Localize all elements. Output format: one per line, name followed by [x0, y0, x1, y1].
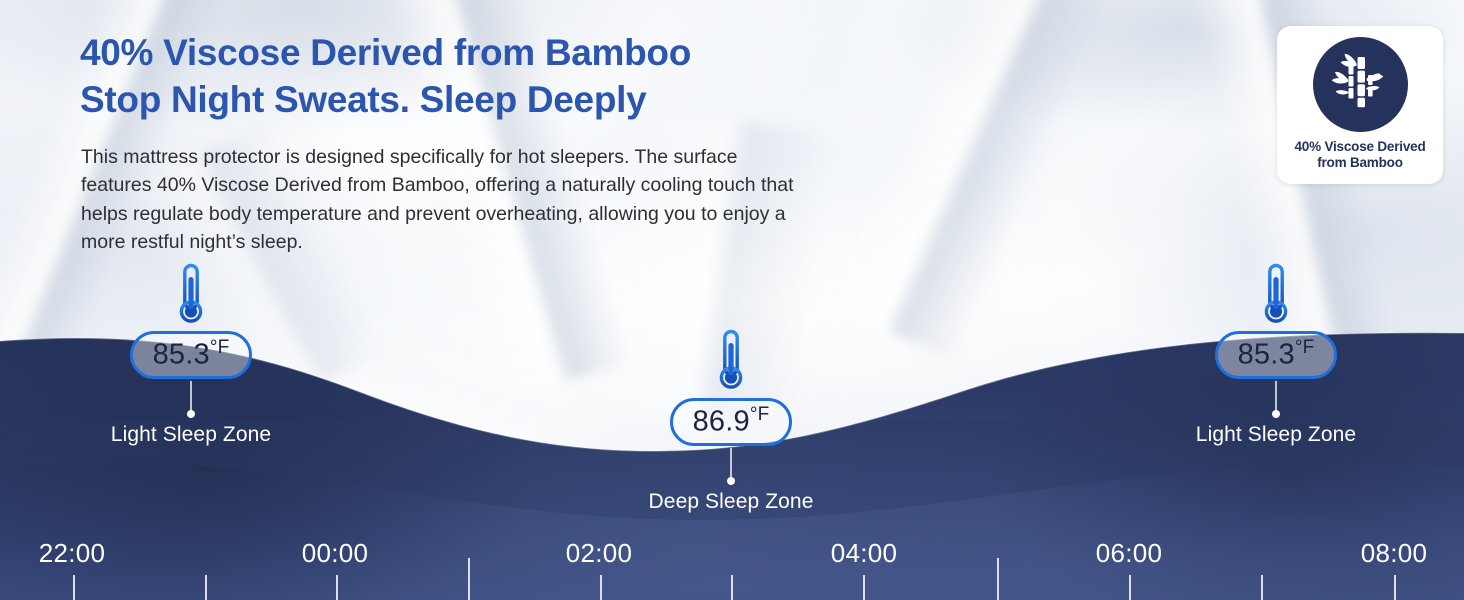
zone-label: Light Sleep Zone: [111, 423, 271, 447]
axis-tick: [731, 575, 733, 600]
badge-caption-line-1: 40% Viscose Derived: [1294, 139, 1425, 154]
temperature-number: 86.9: [693, 406, 750, 438]
axis-tick-major: [997, 558, 999, 600]
axis-label-22: 22:00: [39, 538, 106, 569]
body-paragraph: This mattress protector is designed spec…: [81, 143, 811, 256]
axis-tick: [1129, 575, 1131, 600]
temperature-pill: 86.9°F: [670, 398, 792, 446]
marker-connector-dot: [727, 477, 735, 485]
thermometer-icon: [718, 328, 744, 399]
axis-tick: [1261, 575, 1263, 600]
axis-tick: [600, 575, 602, 600]
axis-label-02: 02:00: [566, 538, 633, 569]
axis-tick: [1394, 575, 1396, 600]
bamboo-badge: 40% Viscose Derived from Bamboo: [1277, 26, 1443, 184]
axis-tick: [336, 575, 338, 600]
bamboo-icon: [1329, 51, 1391, 118]
thermometer-icon: [1263, 262, 1289, 333]
axis-tick: [73, 575, 75, 600]
axis-tick: [863, 575, 865, 600]
badge-caption: 40% Viscose Derived from Bamboo: [1294, 139, 1425, 172]
thermometer-icon: [178, 262, 204, 333]
infographic-canvas: 40% Viscose Derived from Bamboo Stop Nig…: [0, 0, 1464, 600]
axis-label-08: 08:00: [1361, 538, 1428, 569]
quilt-fold: [821, 0, 1129, 362]
zone-label: Deep Sleep Zone: [649, 490, 814, 514]
axis-label-00: 00:00: [302, 538, 369, 569]
temperature-unit: °F: [210, 337, 230, 358]
zone-label: Light Sleep Zone: [1196, 423, 1356, 447]
page-title: 40% Viscose Derived from Bamboo Stop Nig…: [80, 30, 840, 124]
axis-tick: [205, 575, 207, 600]
temperature-number: 85.3: [1238, 339, 1295, 371]
temperature-unit: °F: [750, 404, 770, 425]
temperature-value: 86.9°F: [693, 405, 770, 439]
axis-label-04: 04:00: [831, 538, 898, 569]
headline-line-2: Stop Night Sweats. Sleep Deeply: [80, 77, 840, 124]
headline-line-1: 40% Viscose Derived from Bamboo: [80, 32, 691, 73]
temperature-value: 85.3°F: [1238, 338, 1315, 372]
temperature-unit: °F: [1295, 337, 1315, 358]
temperature-number: 85.3: [153, 339, 210, 371]
badge-circle: [1313, 37, 1408, 132]
temperature-pill: 85.3°F: [1215, 331, 1337, 379]
marker-connector-dot: [187, 410, 195, 418]
axis-label-06: 06:00: [1096, 538, 1163, 569]
temperature-value: 85.3°F: [153, 338, 230, 372]
marker-connector-dot: [1272, 410, 1280, 418]
badge-caption-line-2: from Bamboo: [1317, 155, 1403, 170]
temperature-pill: 85.3°F: [130, 331, 252, 379]
axis-tick-major: [468, 558, 470, 600]
